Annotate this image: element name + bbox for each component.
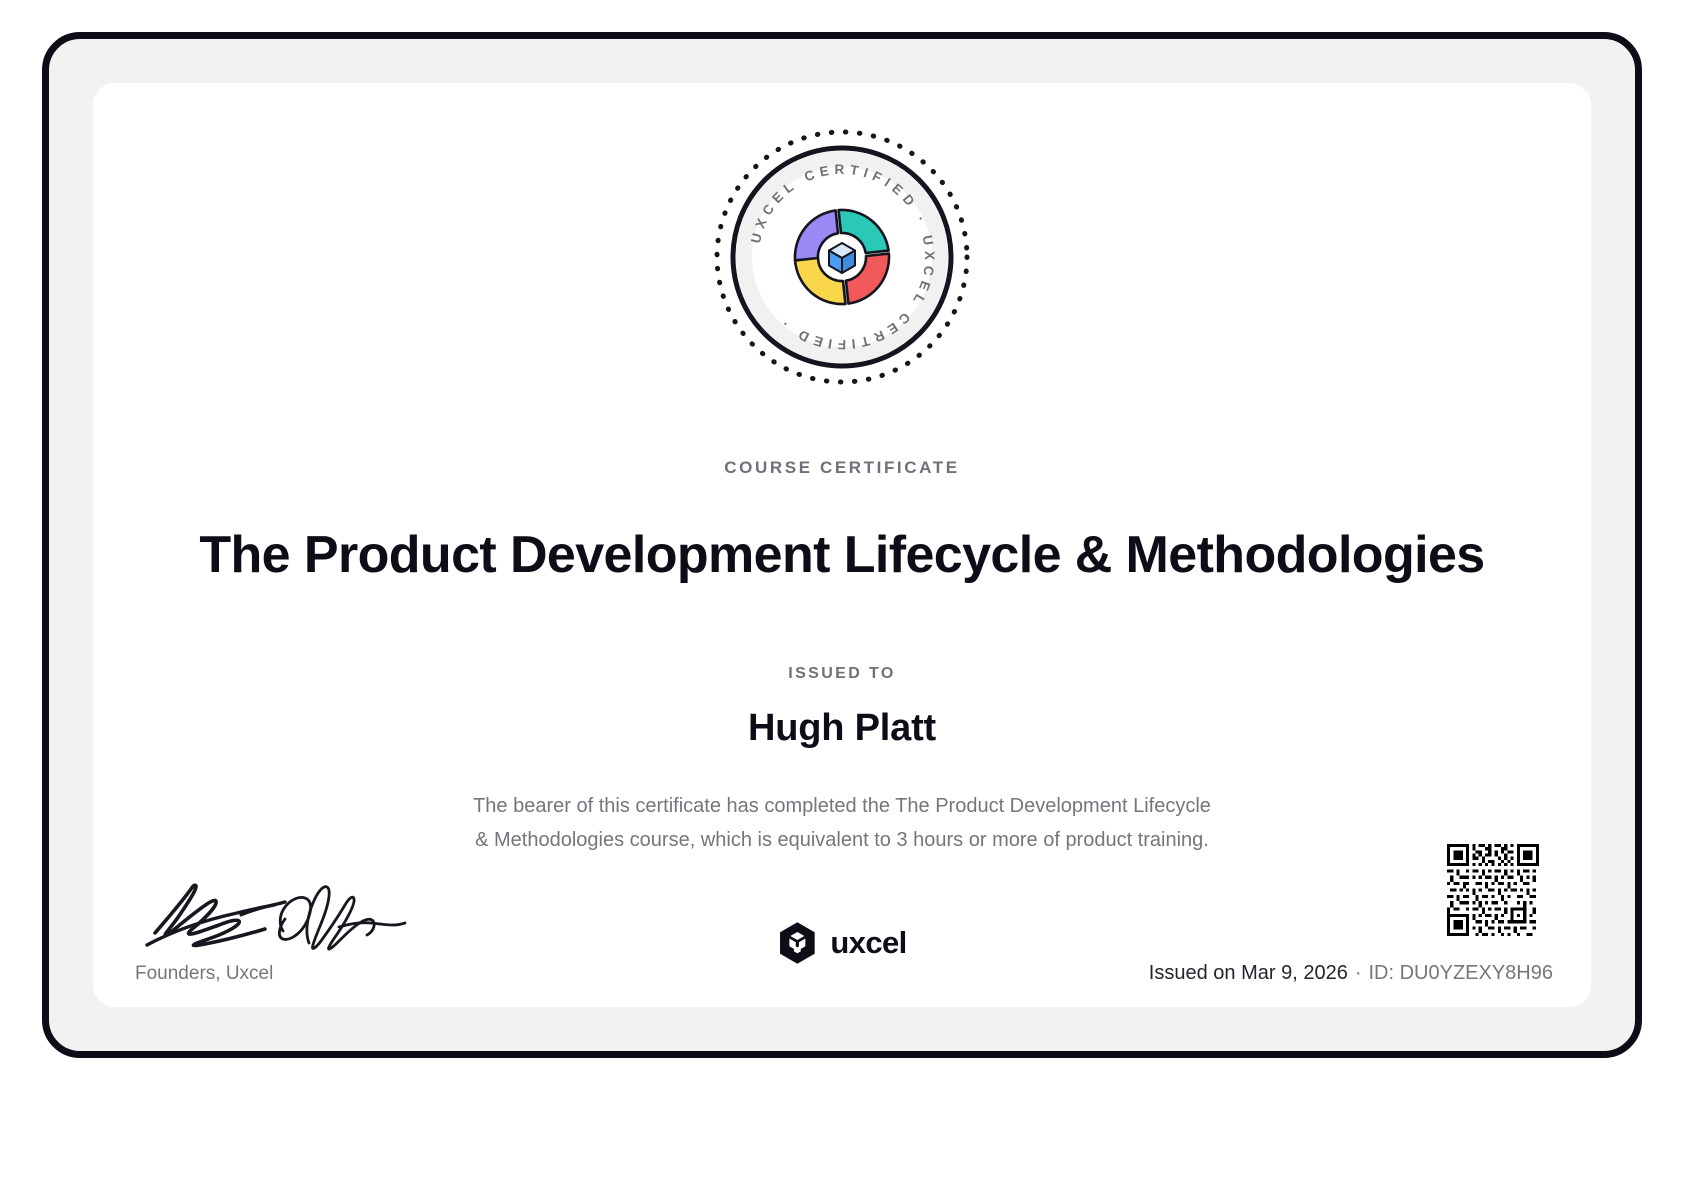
issued-on-text: Issued on Mar 9, 2026 (1149, 962, 1348, 984)
signature-block: Founders, Uxcel (131, 875, 461, 985)
uxcel-hexagon-cube-icon (777, 921, 817, 965)
certificate-meta-line: Issued on Mar 9, 2026·ID: DU0YZEXY8H96 (1149, 962, 1553, 985)
brand-wordmark: uxcel (830, 925, 906, 961)
certificate-meta-block: Issued on Mar 9, 2026·ID: DU0YZEXY8H96 (1149, 844, 1553, 985)
uxcel-certified-seal-icon: UXCEL CERTIFIED · UXCEL CERTIFIED · (710, 125, 974, 389)
issued-to-label: ISSUED TO (93, 665, 1591, 683)
certificate-frame: UXCEL CERTIFIED · UXCEL CERTIFIED · (42, 32, 1642, 1058)
founders-signature-icon (133, 875, 423, 953)
meta-separator: · (1348, 962, 1369, 984)
recipient-name: Hugh Platt (93, 707, 1591, 750)
course-title: The Product Development Lifecycle & Meth… (123, 527, 1561, 584)
certificate-card: UXCEL CERTIFIED · UXCEL CERTIFIED · (93, 83, 1591, 1007)
certificate-id-text: ID: DU0YZEXY8H96 (1368, 962, 1553, 984)
uxcel-brand-logo: uxcel (777, 921, 906, 965)
course-certificate-kicker: COURSE CERTIFICATE (93, 458, 1591, 478)
qr-code-icon[interactable] (1447, 844, 1539, 936)
certificate-description: The bearer of this certificate has compl… (472, 789, 1212, 858)
signature-caption: Founders, Uxcel (131, 963, 461, 985)
